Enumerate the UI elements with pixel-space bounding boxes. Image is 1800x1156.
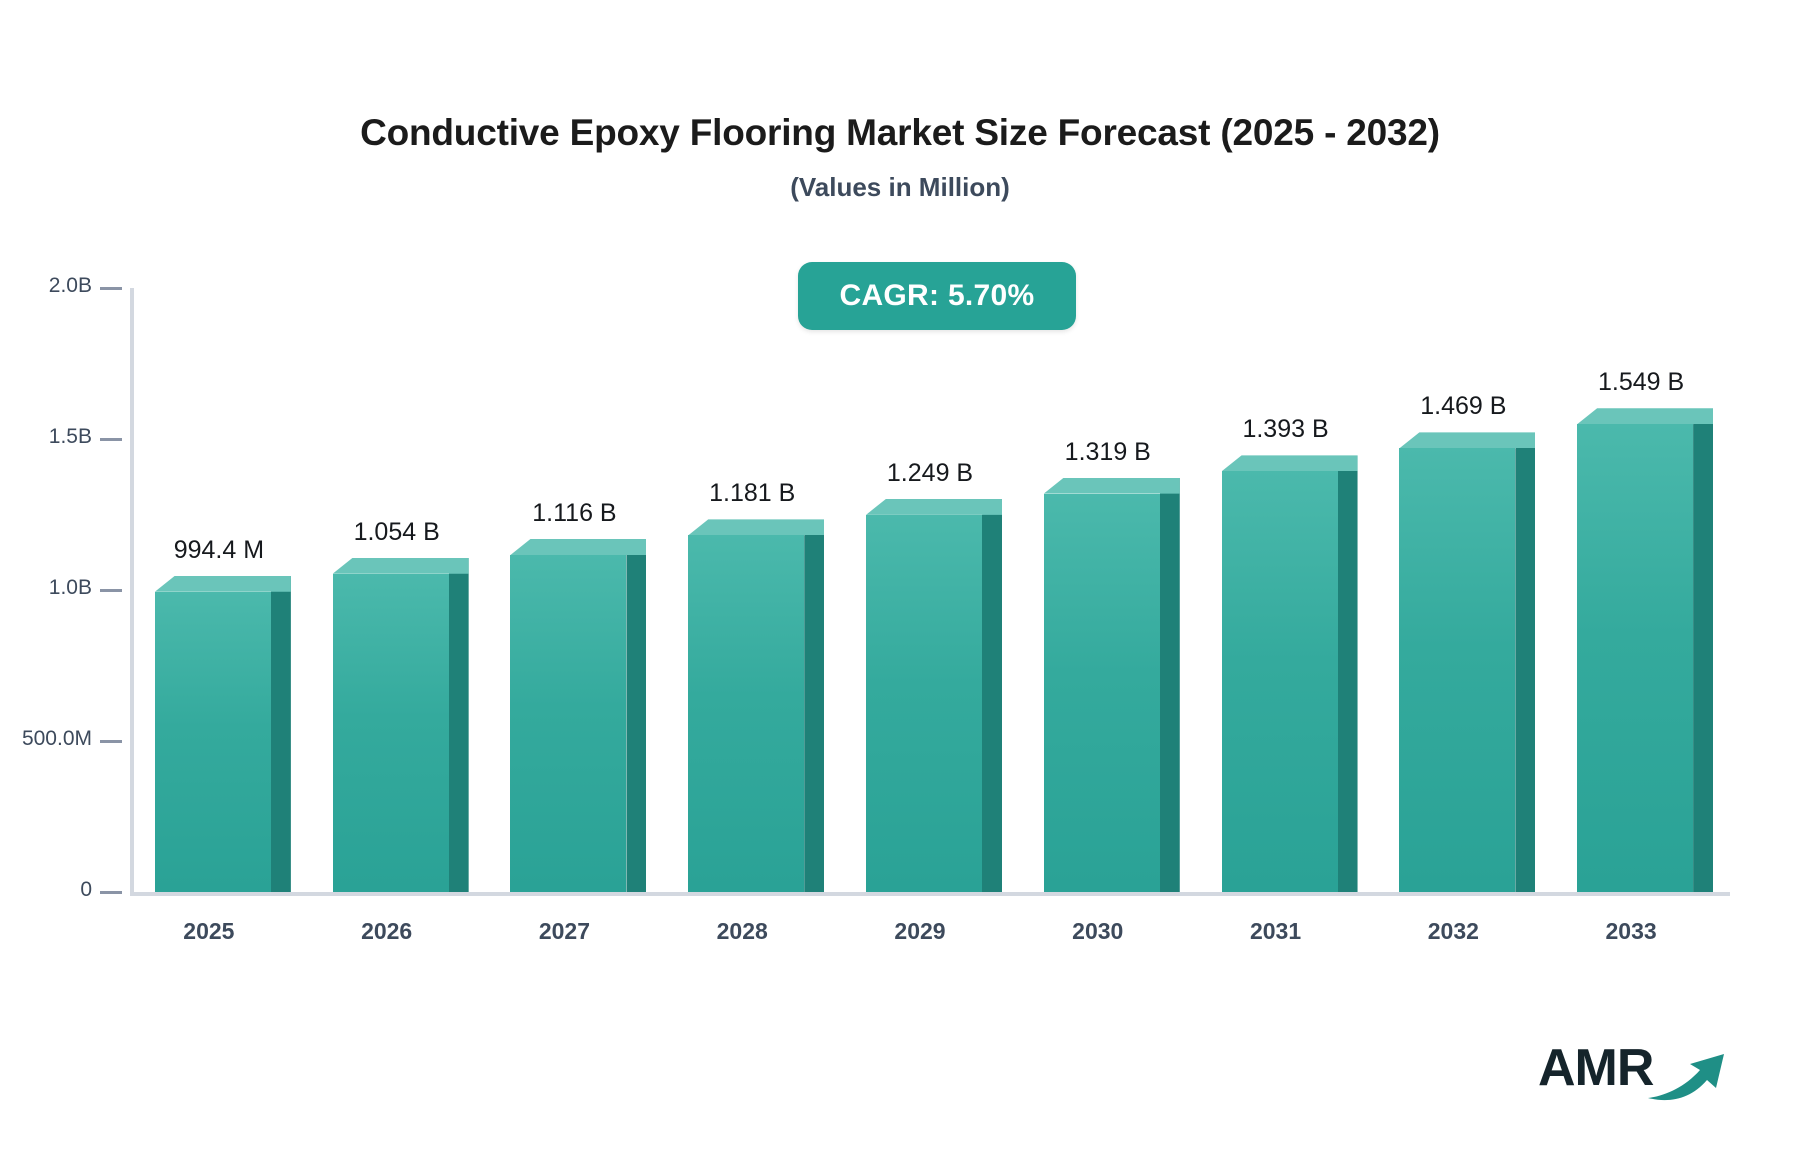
x-axis-tick-label: 2033 [1551,918,1711,945]
x-axis-line [130,892,1730,896]
bar[interactable] [333,558,469,892]
bar-side-face [1160,478,1180,892]
bar[interactable] [1577,408,1713,892]
x-axis-tick-label: 2032 [1373,918,1533,945]
bar-top-face [1044,478,1180,494]
bar-front-face [155,592,271,892]
bar-side-face [626,539,646,892]
bar-side-face [449,558,469,892]
bar-top-face [1222,455,1358,471]
bar[interactable] [1044,478,1180,892]
bar-side-face [1693,408,1713,892]
bar[interactable] [688,519,824,892]
bar-side-face [1515,432,1535,892]
x-axis-tick-label: 2025 [129,918,289,945]
growth-arrow-icon [1646,1050,1728,1102]
y-axis-tick-label: 1.0B [0,576,92,600]
bar-side-face [804,519,824,892]
bar-top-face [510,539,646,555]
chart-title: Conductive Epoxy Flooring Market Size Fo… [0,112,1800,154]
bar-top-face [688,519,824,535]
bar-top-face [1399,432,1535,448]
bar-front-face [1044,494,1160,892]
y-axis-tick-mark [100,287,122,290]
y-axis-tick-label: 500.0M [0,727,92,751]
bar-top-face [333,558,469,574]
bar-value-label: 1.549 B [1531,368,1751,397]
bar-front-face [1222,471,1338,892]
y-axis-tick-mark [100,438,122,441]
bar-side-face [982,499,1002,892]
amr-logo-text: AMR [1538,1038,1653,1098]
x-axis-tick-label: 2031 [1196,918,1356,945]
y-axis-tick-label: 0 [0,878,92,902]
y-axis-tick-mark [100,740,122,743]
bar[interactable] [510,539,646,892]
chart-subtitle: (Values in Million) [0,172,1800,203]
bar-front-face [688,535,804,892]
x-axis-tick-label: 2027 [484,918,644,945]
chart-canvas: Conductive Epoxy Flooring Market Size Fo… [0,0,1800,1156]
bar[interactable] [866,499,1002,892]
bar[interactable] [155,576,291,892]
x-axis-tick-label: 2030 [1018,918,1178,945]
bar-front-face [866,515,982,892]
bar-side-face [271,576,291,892]
bar-side-face [1338,455,1358,892]
y-axis-tick-label: 2.0B [0,274,92,298]
bar-front-face [333,574,449,892]
amr-logo: AMR [1538,1036,1728,1108]
bar[interactable] [1222,455,1358,892]
x-axis-tick-label: 2026 [307,918,467,945]
bar-top-face [1577,408,1713,424]
y-axis-tick-label: 1.5B [0,425,92,449]
bar-top-face [155,576,291,592]
x-axis-tick-label: 2028 [662,918,822,945]
plot-area [130,288,1730,896]
bar-front-face [1577,424,1693,892]
bar-top-face [866,499,1002,515]
bar-front-face [510,555,626,892]
bar[interactable] [1399,432,1535,892]
x-axis-tick-label: 2029 [840,918,1000,945]
y-axis-tick-mark [100,589,122,592]
y-axis-tick-mark [100,891,122,894]
bar-front-face [1399,448,1515,892]
y-axis-line [130,288,134,896]
